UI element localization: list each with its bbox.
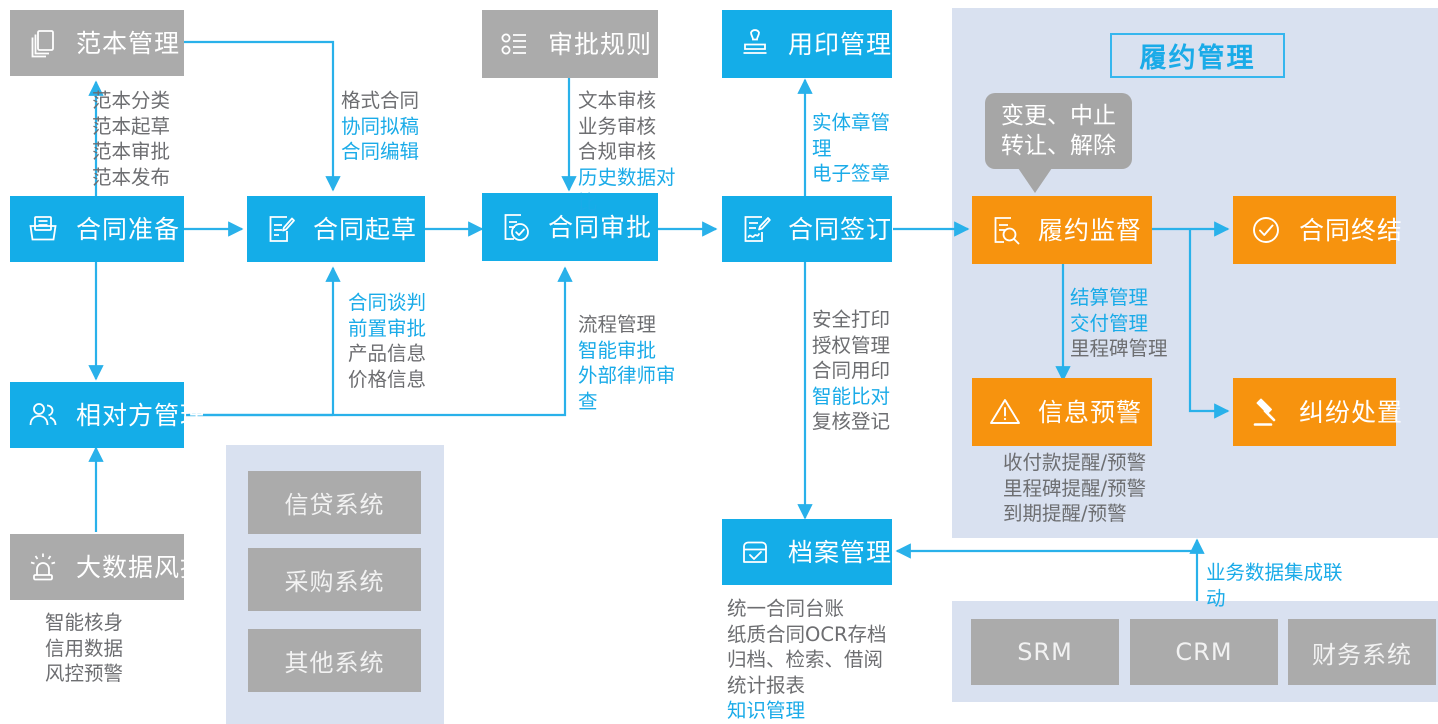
node-label: 大数据风控 bbox=[76, 555, 206, 580]
note-line: 授权管理 bbox=[812, 333, 932, 359]
note-line: 业务数据集成联动 bbox=[1206, 560, 1354, 611]
node-counterparty-mgmt[interactable]: 相对方管理 bbox=[10, 382, 184, 448]
system-chip-label: 财务系统 bbox=[1312, 635, 1412, 670]
node-dispute-handle[interactable]: 纠纷处置 bbox=[1233, 378, 1396, 446]
notes-draft-top: 格式合同协同拟稿合同编辑 bbox=[341, 88, 471, 165]
note-line: 协同拟稿 bbox=[341, 114, 471, 140]
node-contract-draft[interactable]: 合同起草 bbox=[247, 196, 425, 262]
check-circle-icon bbox=[1247, 211, 1285, 249]
node-label: 履约监督 bbox=[1038, 218, 1142, 243]
note-line: 流程管理 bbox=[578, 312, 686, 338]
system-chip-procurement[interactable]: 采购系统 bbox=[248, 548, 421, 611]
notes-seal: 实体章管理电子签章 bbox=[812, 110, 904, 187]
node-label: 范本管理 bbox=[76, 31, 180, 56]
note-line: 文本审核 bbox=[578, 88, 690, 114]
notes-bigdata: 智能核身信用数据风控预警 bbox=[45, 610, 175, 687]
warning-triangle-icon bbox=[986, 393, 1024, 431]
section-title-performance-management: 履约管理 bbox=[1110, 33, 1285, 78]
note-line: 实体章管理 bbox=[812, 110, 904, 161]
notes-alert: 收付款提醒/预警里程碑提醒/预警到期提醒/预警 bbox=[1003, 450, 1193, 527]
bullet-list-icon bbox=[496, 25, 534, 63]
change-terminate-callout: 变更、中止 转让、解除 bbox=[985, 93, 1132, 169]
notes-performance: 结算管理交付管理里程碑管理 bbox=[1070, 285, 1200, 362]
note-line: 统一合同台账 bbox=[727, 596, 917, 622]
system-chip-label: 其他系统 bbox=[285, 643, 385, 678]
node-label: 相对方管理 bbox=[76, 403, 206, 428]
notes-draft-bottom: 合同谈判前置审批产品信息价格信息 bbox=[348, 290, 478, 392]
system-chip-other[interactable]: 其他系统 bbox=[248, 629, 421, 692]
notes-approve-bottom: 流程管理智能审批外部律师审查 bbox=[578, 312, 686, 414]
system-chip-srm[interactable]: SRM bbox=[971, 619, 1119, 685]
system-chip-credit[interactable]: 信贷系统 bbox=[248, 471, 421, 534]
note-line: 风控预警 bbox=[45, 661, 175, 687]
note-line: 统计报表 bbox=[727, 673, 917, 699]
note-line: 历史数据对比 bbox=[578, 165, 690, 216]
doc-check-icon bbox=[496, 208, 534, 246]
notes-archive: 统一合同台账纸质合同OCR存档归档、检索、借阅统计报表知识管理 bbox=[727, 596, 917, 724]
note-line: 业务审核 bbox=[578, 114, 690, 140]
note-line: 里程碑管理 bbox=[1070, 336, 1200, 362]
node-info-alert[interactable]: 信息预警 bbox=[972, 378, 1152, 446]
doc-magnifier-icon bbox=[986, 211, 1024, 249]
stamp-icon bbox=[736, 25, 774, 63]
node-approval-rules[interactable]: 审批规则 bbox=[482, 10, 658, 78]
node-label: 合同审批 bbox=[548, 215, 652, 240]
note-line: 合同编辑 bbox=[341, 139, 471, 165]
note-line: 归档、检索、借阅 bbox=[727, 647, 917, 673]
note-line: 价格信息 bbox=[348, 367, 478, 393]
note-line: 安全打印 bbox=[812, 307, 932, 333]
note-line: 复核登记 bbox=[812, 409, 932, 435]
node-label: 合同签订 bbox=[788, 217, 892, 242]
node-label: 合同准备 bbox=[76, 217, 180, 242]
node-label: 用印管理 bbox=[788, 32, 892, 57]
note-line: 范本起草 bbox=[92, 114, 212, 140]
section-title-label: 履约管理 bbox=[1140, 36, 1256, 75]
note-line: 里程碑提醒/预警 bbox=[1003, 476, 1193, 502]
alarm-light-icon bbox=[24, 548, 62, 586]
node-label: 档案管理 bbox=[788, 540, 892, 565]
notes-integration: 业务数据集成联动 bbox=[1206, 560, 1354, 611]
node-performance-supervise[interactable]: 履约监督 bbox=[972, 196, 1152, 264]
archive-check-icon bbox=[736, 533, 774, 571]
doc-signature-icon bbox=[736, 210, 774, 248]
note-line: 到期提醒/预警 bbox=[1003, 501, 1193, 527]
system-chip-finance[interactable]: 财务系统 bbox=[1288, 619, 1436, 685]
node-label: 审批规则 bbox=[548, 32, 652, 57]
note-line: 前置审批 bbox=[348, 316, 478, 342]
node-label: 合同终结 bbox=[1299, 218, 1403, 243]
system-chip-label: CRM bbox=[1175, 638, 1232, 666]
callout-tail bbox=[1018, 168, 1052, 193]
system-chip-label: SRM bbox=[1017, 638, 1073, 666]
node-label: 纠纷处置 bbox=[1299, 400, 1403, 425]
node-bigdata-risk[interactable]: 大数据风控 bbox=[10, 534, 184, 600]
note-line: 格式合同 bbox=[341, 88, 471, 114]
doc-pencil-icon bbox=[261, 210, 299, 248]
note-line: 合同用印 bbox=[812, 358, 932, 384]
node-archive-mgmt[interactable]: 档案管理 bbox=[722, 519, 892, 585]
note-line: 结算管理 bbox=[1070, 285, 1200, 311]
note-line: 交付管理 bbox=[1070, 311, 1200, 337]
note-line: 知识管理 bbox=[727, 698, 917, 724]
notes-sign: 安全打印授权管理合同用印智能比对复核登记 bbox=[812, 307, 932, 435]
note-line: 纸质合同OCR存档 bbox=[727, 622, 917, 648]
note-line: 电子签章 bbox=[812, 161, 904, 187]
node-contract-end[interactable]: 合同终结 bbox=[1233, 196, 1396, 264]
diagram-canvas: 范本管理 合同准备 相对方管理 bbox=[0, 0, 1438, 724]
copies-icon bbox=[24, 24, 62, 62]
note-line: 范本分类 bbox=[92, 88, 212, 114]
note-line: 信用数据 bbox=[45, 636, 175, 662]
gavel-icon bbox=[1247, 393, 1285, 431]
notes-approve-top: 文本审核业务审核合规审核历史数据对比 bbox=[578, 88, 690, 216]
notes-template: 范本分类范本起草范本审批范本发布 bbox=[92, 88, 212, 190]
system-chip-crm[interactable]: CRM bbox=[1130, 619, 1278, 685]
callout-line-1: 变更、中止 bbox=[1001, 101, 1116, 131]
note-line: 外部律师审查 bbox=[578, 363, 686, 414]
note-line: 合同谈判 bbox=[348, 290, 478, 316]
note-line: 收付款提醒/预警 bbox=[1003, 450, 1193, 476]
note-line: 智能比对 bbox=[812, 384, 932, 410]
note-line: 范本审批 bbox=[92, 139, 212, 165]
node-label: 信息预警 bbox=[1038, 400, 1142, 425]
node-label: 合同起草 bbox=[313, 217, 417, 242]
note-line: 合规审核 bbox=[578, 139, 690, 165]
system-chip-label: 采购系统 bbox=[285, 562, 385, 597]
note-line: 智能审批 bbox=[578, 338, 686, 364]
node-contract-prep[interactable]: 合同准备 bbox=[10, 196, 184, 262]
users-icon bbox=[24, 396, 62, 434]
system-chip-label: 信贷系统 bbox=[285, 485, 385, 520]
callout-line-2: 转让、解除 bbox=[1001, 131, 1116, 161]
note-line: 产品信息 bbox=[348, 341, 478, 367]
node-template-mgmt[interactable]: 范本管理 bbox=[10, 10, 184, 76]
folder-doc-icon bbox=[24, 210, 62, 248]
node-seal-mgmt[interactable]: 用印管理 bbox=[722, 10, 892, 78]
note-line: 范本发布 bbox=[92, 165, 212, 191]
node-contract-sign[interactable]: 合同签订 bbox=[722, 196, 892, 262]
note-line: 智能核身 bbox=[45, 610, 175, 636]
